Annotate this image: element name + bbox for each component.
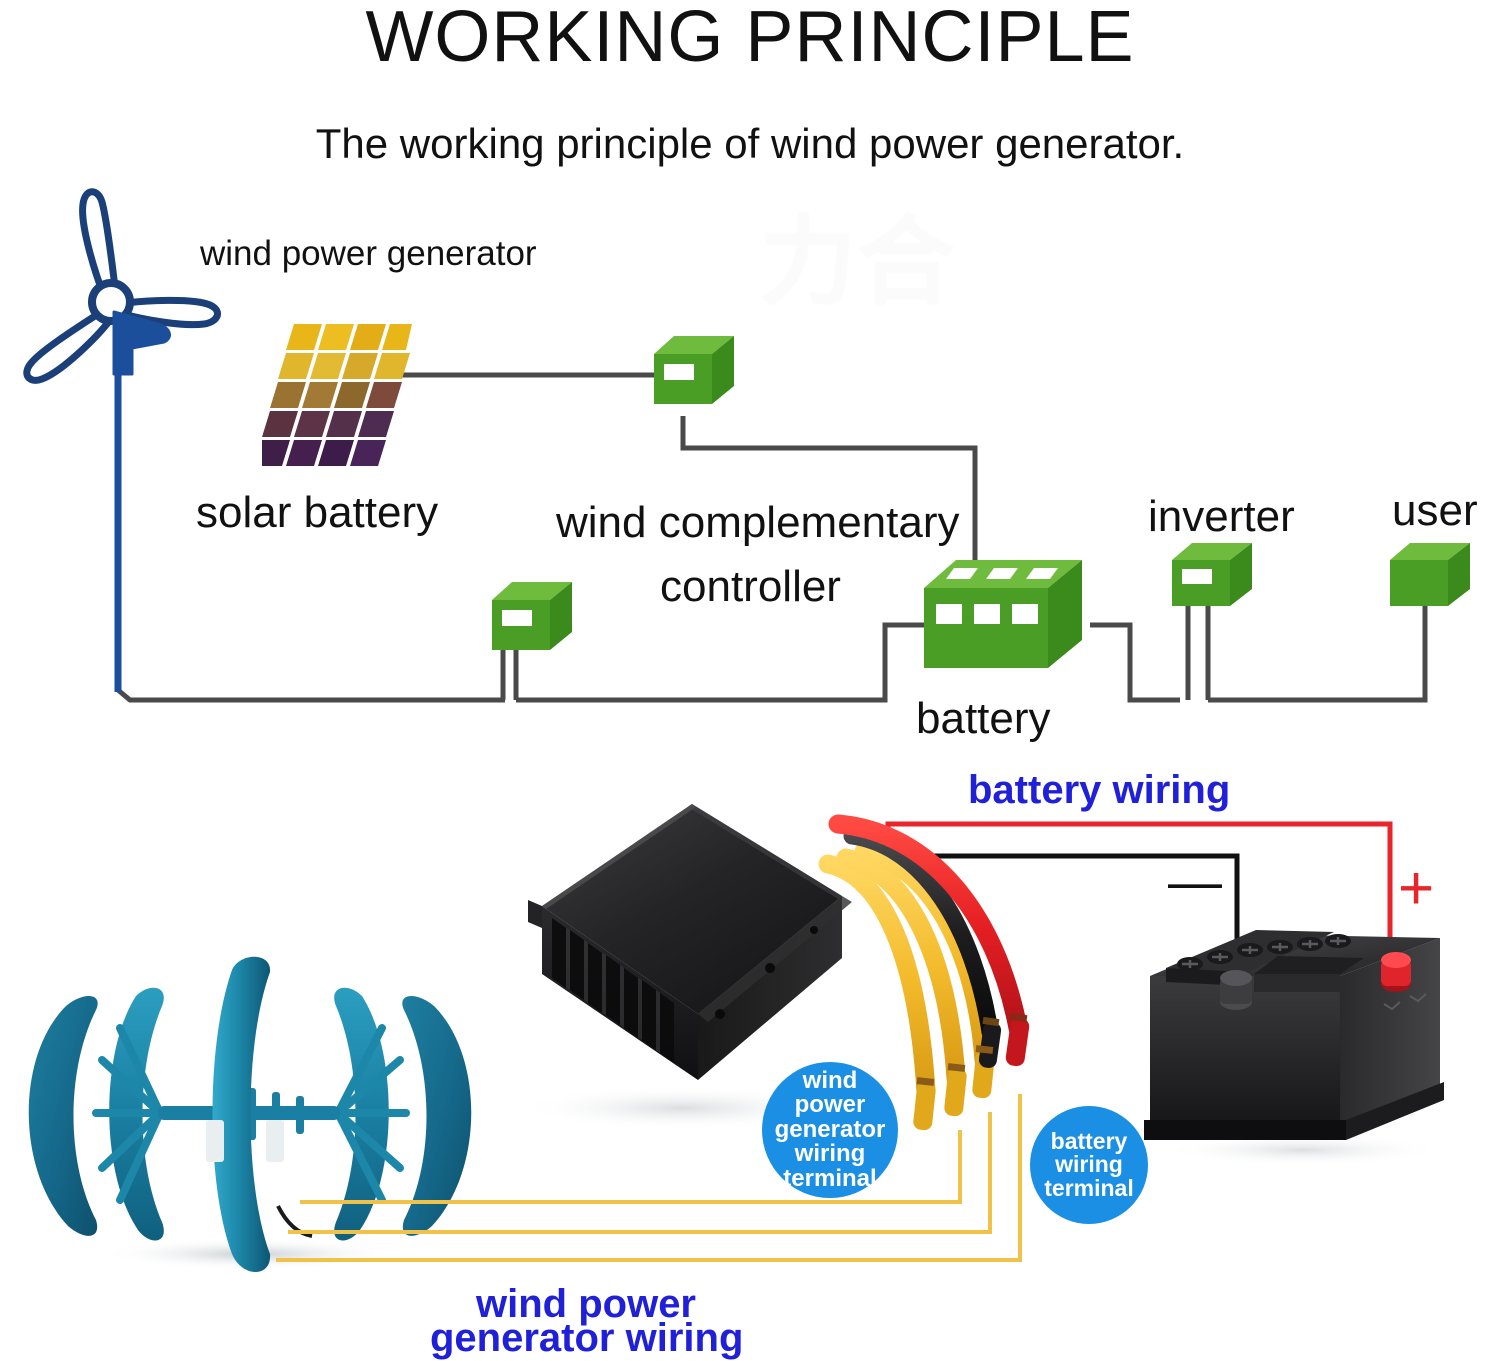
label-solar-battery: solar battery (196, 488, 438, 538)
battery-wiring-terminal-badge: battery wiring terminal (1030, 1106, 1148, 1224)
badge-line: wiring (775, 1142, 886, 1166)
label-user: user (1392, 486, 1478, 536)
badge-line: generator (775, 1118, 886, 1142)
badge-line: battery (1044, 1130, 1133, 1153)
page-title: WORKING PRINCIPLE (0, 0, 1500, 78)
badge-line: wind (775, 1069, 886, 1093)
green-box-controller-top (650, 332, 740, 420)
battery-negative-symbol: — (1168, 855, 1222, 909)
badge-line: power (775, 1093, 886, 1117)
green-battery-block (918, 552, 1096, 677)
solar-panel-icon (262, 322, 412, 492)
generator-wiring-annotation-line2: generator wiring (430, 1316, 743, 1361)
green-box-user (1386, 538, 1476, 622)
generator-wiring-terminal-badge: wind power generator wiring terminal (762, 1062, 898, 1198)
label-wind-power-generator: wind power generator (200, 234, 537, 274)
label-controller-line2: controller (660, 562, 841, 612)
battery-wiring-annotation: battery wiring (968, 768, 1230, 813)
badge-line: wiring (1044, 1153, 1133, 1176)
working-principle-poster: WORKING PRINCIPLE The working principle … (0, 0, 1500, 1360)
battery-positive-symbol: + (1398, 858, 1434, 920)
page-subtitle: The working principle of wind power gene… (0, 120, 1500, 168)
label-battery: battery (916, 694, 1051, 744)
badge-line: terminal (1044, 1177, 1133, 1200)
badge-line: terminal (775, 1167, 886, 1191)
label-inverter: inverter (1148, 492, 1295, 542)
green-box-controller-bottom (488, 578, 578, 666)
label-controller-line1: wind complementary (556, 498, 960, 548)
green-box-inverter (1168, 538, 1258, 622)
wind-turbine-icon (8, 178, 223, 403)
